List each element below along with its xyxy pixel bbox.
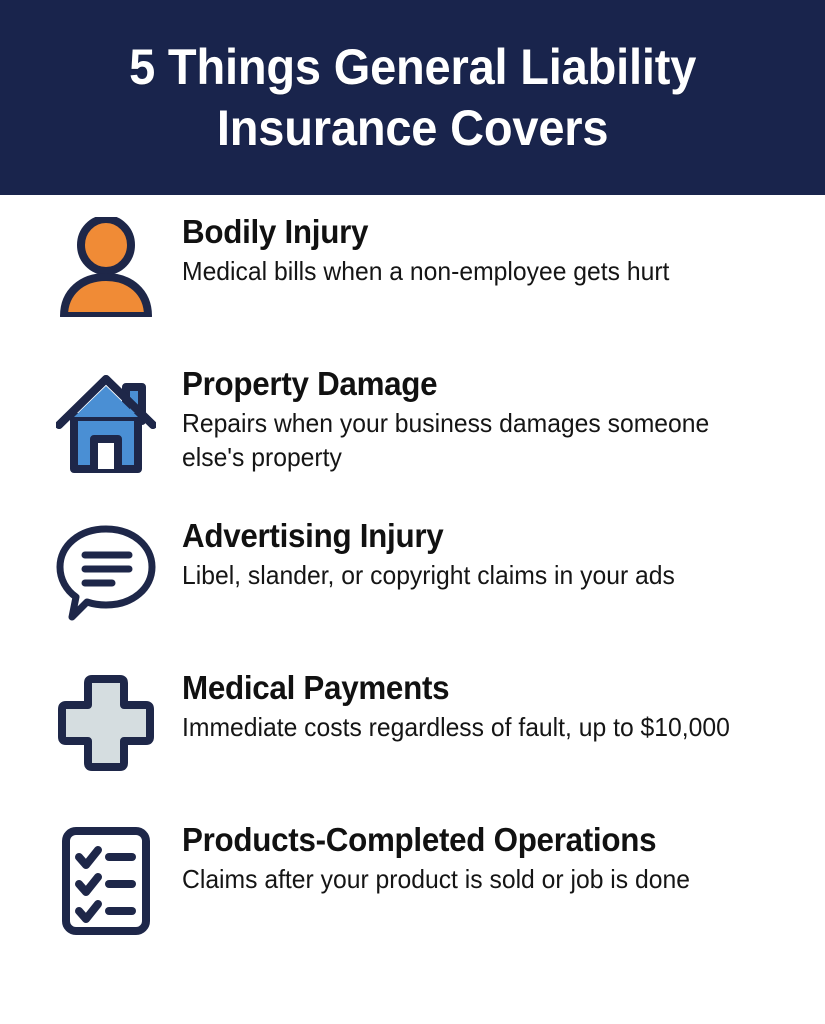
house-icon [30, 365, 182, 475]
list-item: Products-Completed Operations Claims aft… [30, 821, 795, 941]
speech-bubble-icon [30, 517, 182, 625]
list-item-description: Claims after your product is sold or job… [182, 863, 745, 897]
list-item-title: Medical Payments [182, 669, 745, 708]
person-icon [30, 213, 182, 317]
list-item-title: Advertising Injury [182, 517, 745, 556]
list-item: Medical Payments Immediate costs regardl… [30, 669, 795, 789]
list-item-title: Property Damage [182, 365, 745, 404]
list-item-description: Repairs when your business damages someo… [182, 407, 745, 475]
medical-cross-icon [30, 669, 182, 773]
list-item-description: Libel, slander, or copyright claims in y… [182, 559, 745, 593]
list-item: Bodily Injury Medical bills when a non-e… [30, 213, 795, 333]
list-item-title: Products-Completed Operations [182, 821, 745, 860]
list-item-text: Products-Completed Operations Claims aft… [182, 821, 795, 897]
page-title: 5 Things General Liability Insurance Cov… [86, 37, 740, 159]
list-item-text: Property Damage Repairs when your busine… [182, 365, 795, 475]
list-item: Property Damage Repairs when your busine… [30, 365, 795, 485]
coverage-list: Bodily Injury Medical bills when a non-e… [0, 195, 825, 1024]
page-title-line-2: Insurance Covers [217, 100, 608, 156]
list-item-text: Medical Payments Immediate costs regardl… [182, 669, 795, 745]
list-item-description: Immediate costs regardless of fault, up … [182, 711, 745, 745]
header-band: 5 Things General Liability Insurance Cov… [0, 0, 825, 195]
list-item-text: Bodily Injury Medical bills when a non-e… [182, 213, 795, 289]
infographic-poster: 5 Things General Liability Insurance Cov… [0, 0, 825, 1024]
list-item-description: Medical bills when a non-employee gets h… [182, 255, 745, 289]
list-item: Advertising Injury Libel, slander, or co… [30, 517, 795, 637]
checklist-clipboard-icon [30, 821, 182, 937]
list-item-title: Bodily Injury [182, 213, 745, 252]
list-item-text: Advertising Injury Libel, slander, or co… [182, 517, 795, 593]
page-title-line-1: 5 Things General Liability [129, 39, 696, 95]
